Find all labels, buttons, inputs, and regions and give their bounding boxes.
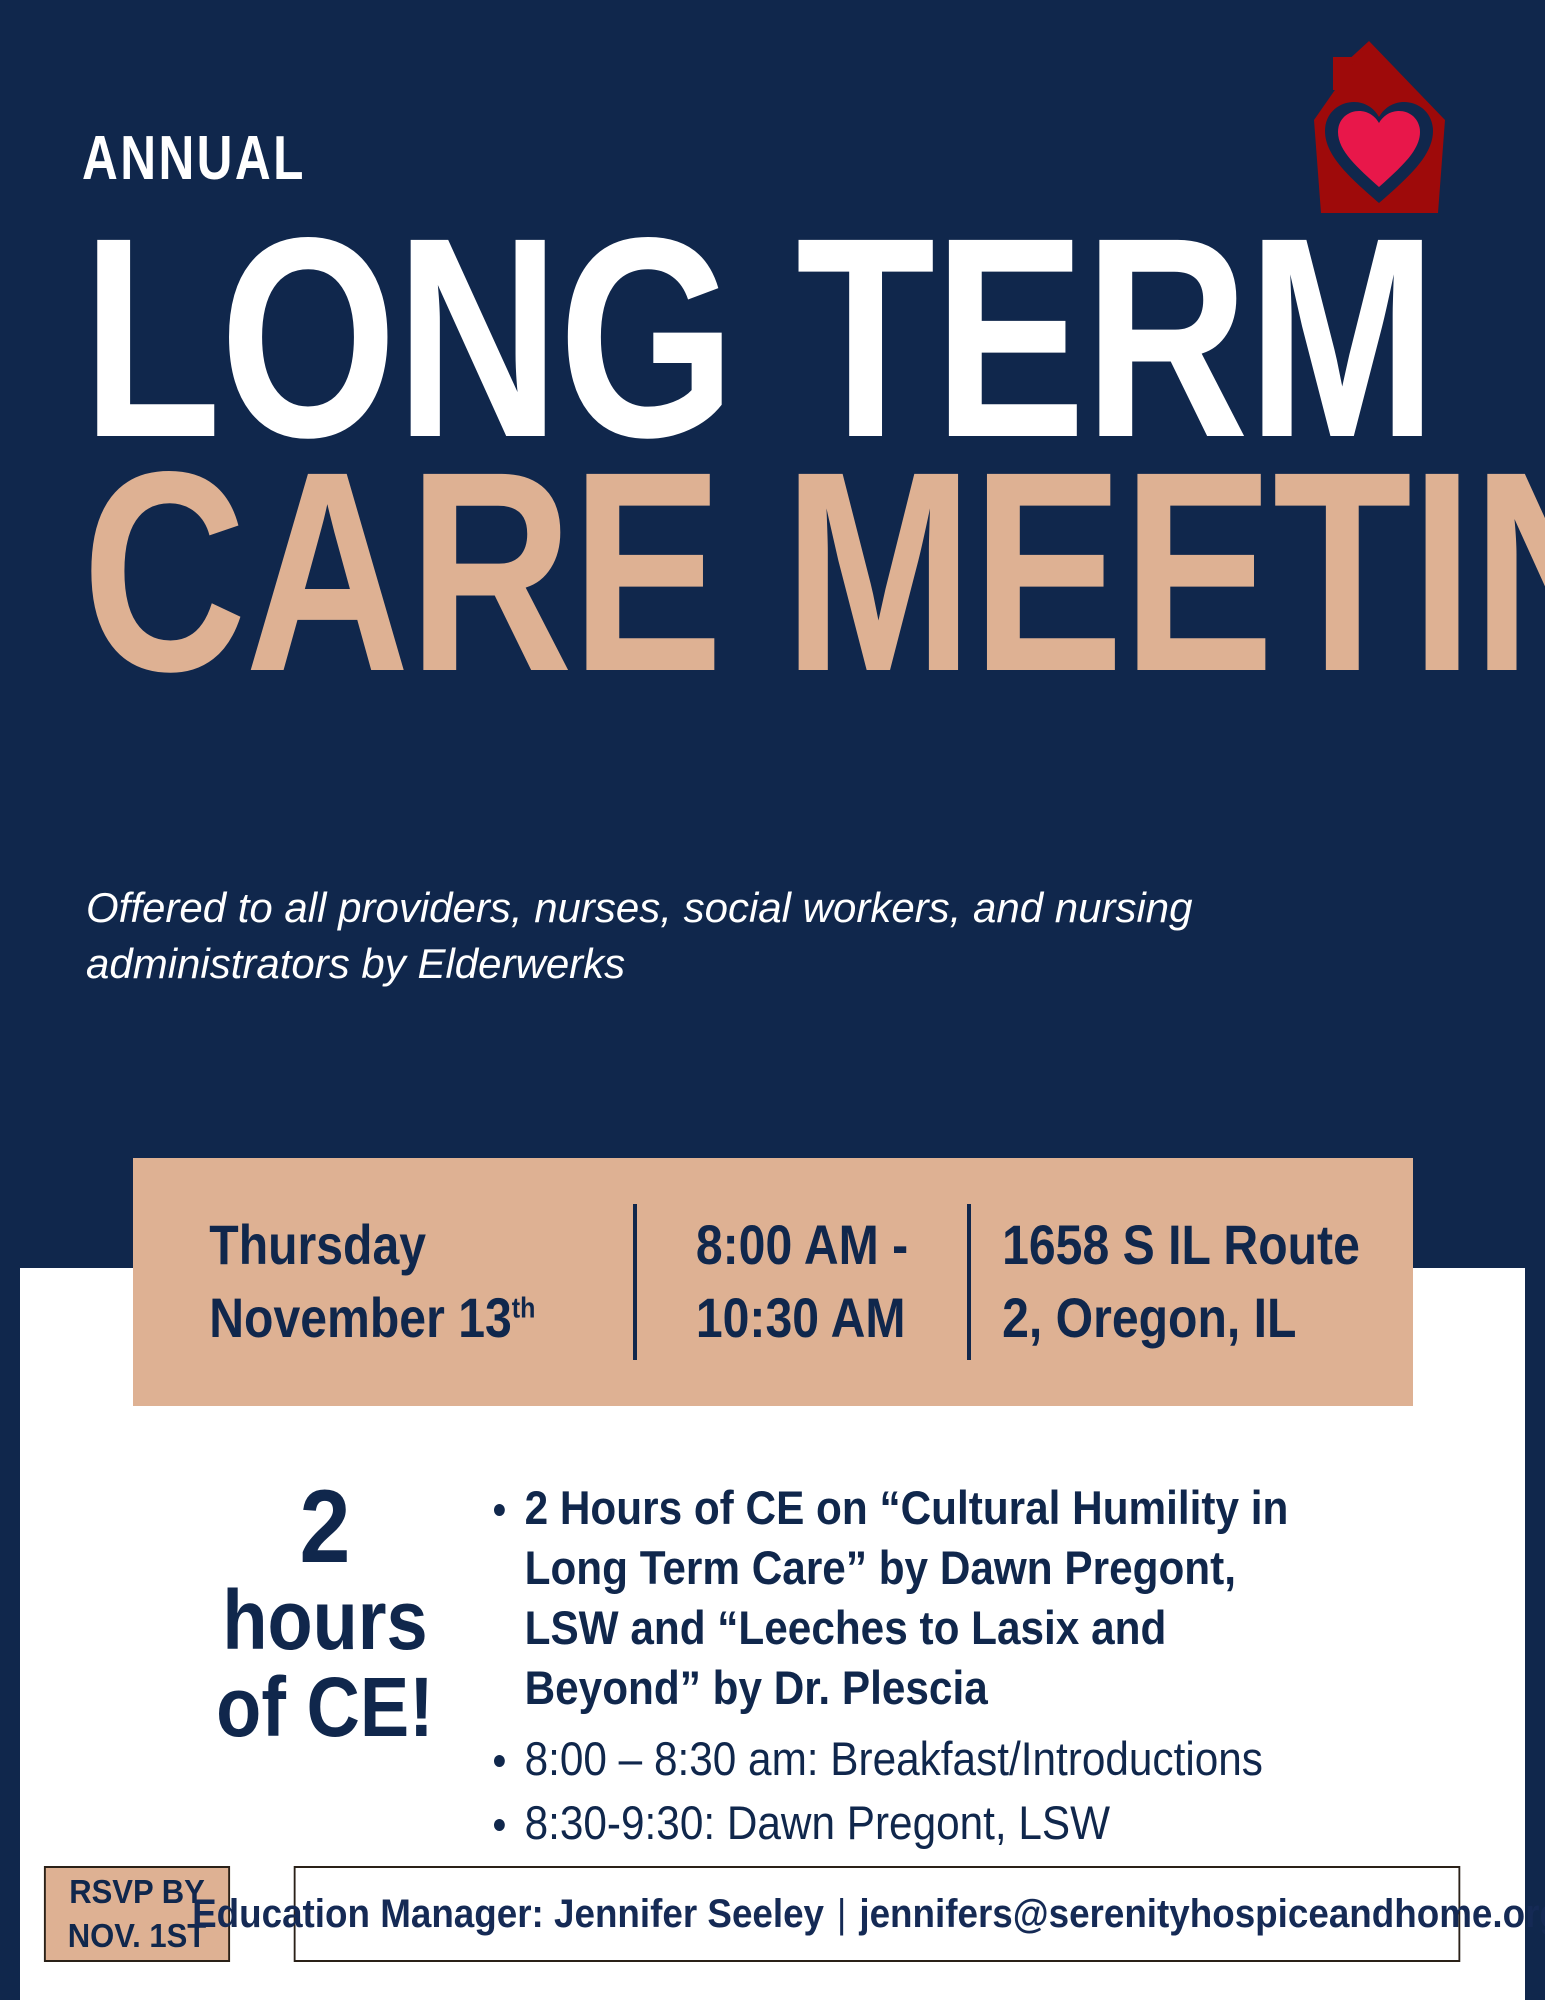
- info-location: 1658 S IL Route 2, Oregon, IL: [1000, 1204, 1361, 1360]
- info-divider-1: [633, 1204, 637, 1360]
- info-location-line1: 1658 S IL Route: [1002, 1209, 1360, 1282]
- headline-block: ANNUAL LONG TERM CARE MEETING: [82, 128, 1462, 686]
- event-info-bar: Thursday November 13th 8:00 AM - 10:30 A…: [133, 1158, 1413, 1406]
- footer-bar: RSVP BY NOV. 1ST Education Manager: Jenn…: [38, 1866, 1511, 1962]
- flyer-poster: ANNUAL LONG TERM CARE MEETING Offered to…: [0, 0, 1545, 2000]
- info-time: 8:00 AM - 10:30 AM: [660, 1204, 944, 1360]
- contact-bar: Education Manager: Jennifer Seeley | jen…: [294, 1866, 1461, 1962]
- info-location-line2: 2, Oregon, IL: [1002, 1282, 1360, 1355]
- rsvp-line-1: RSVP BY: [69, 1870, 205, 1914]
- info-divider-2: [967, 1204, 971, 1360]
- info-date-line2: November 13th: [209, 1282, 535, 1355]
- contact-separator: |: [824, 1892, 859, 1937]
- contact-name: Education Manager: Jennifer Seeley: [192, 1892, 824, 1937]
- rsvp-line-2: NOV. 1ST: [68, 1914, 207, 1958]
- ce-hours-label: hours: [222, 1573, 427, 1667]
- agenda-list: 2 Hours of CE on “Cultural Humility in L…: [485, 1478, 1405, 1921]
- contact-email[interactable]: jennifers@serenityhospiceandhome.org: [859, 1892, 1545, 1937]
- info-time-line1: 8:00 AM -: [696, 1209, 908, 1282]
- info-date: Thursday November 13th: [168, 1204, 598, 1360]
- ce-hours-badge: 2 hours of CE!: [215, 1478, 435, 1752]
- info-date-ordinal: th: [512, 1292, 536, 1324]
- ce-hours-number: 2: [215, 1478, 435, 1577]
- ce-hours-sublabel: of CE!: [216, 1660, 434, 1754]
- list-item: 8:00 – 8:30 am: Breakfast/Introductions: [485, 1729, 1313, 1789]
- info-time-line2: 10:30 AM: [696, 1282, 908, 1355]
- list-item: 8:30-9:30: Dawn Pregont, LSW: [485, 1793, 1313, 1853]
- info-date-text: November 13: [209, 1286, 511, 1349]
- title-line-2: CARE MEETING: [82, 458, 1186, 686]
- info-date-line1: Thursday: [209, 1209, 535, 1282]
- subtitle-text: Offered to all providers, nurses, social…: [86, 880, 1286, 992]
- list-item: 2 Hours of CE on “Cultural Humility in L…: [485, 1478, 1313, 1719]
